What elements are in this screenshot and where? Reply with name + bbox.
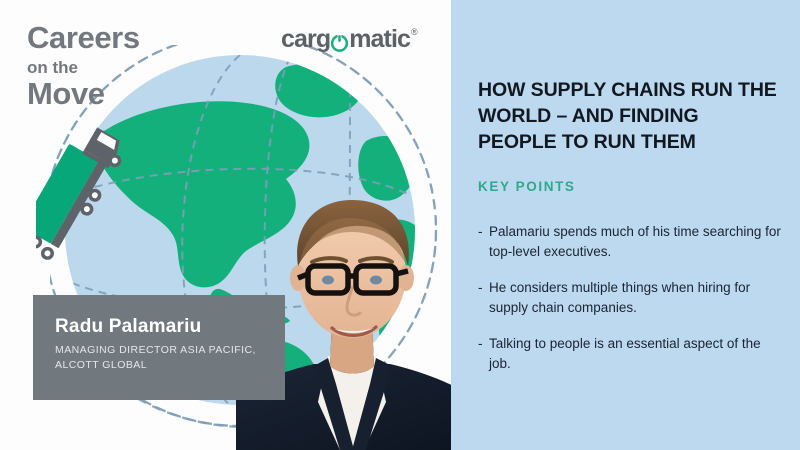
careers-on-the-move-headline: Careers on the Move bbox=[27, 22, 140, 111]
list-item: - Palamariu spends much of his time sear… bbox=[478, 222, 783, 261]
list-item: - Talking to people is an essential aspe… bbox=[478, 334, 783, 373]
key-points-list: - Palamariu spends much of his time sear… bbox=[478, 222, 783, 390]
left-panel: Careers on the Move carg matic ® Radu Pa… bbox=[0, 0, 451, 450]
list-item: - He considers multiple things when hiri… bbox=[478, 278, 783, 317]
episode-title: HOW SUPPLY CHAINS RUN THE WORLD – AND FI… bbox=[478, 78, 778, 156]
bullet-text: Talking to people is an essential aspect… bbox=[489, 334, 783, 373]
cargomatic-logo: carg matic ® bbox=[281, 27, 417, 52]
speaker-name: Radu Palamariu bbox=[55, 316, 201, 338]
bullet-dash: - bbox=[478, 222, 489, 261]
truck-icon bbox=[36, 118, 146, 283]
registered-trademark-icon: ® bbox=[411, 27, 418, 37]
slide-canvas: Careers on the Move carg matic ® Radu Pa… bbox=[0, 0, 800, 450]
key-points-label: KEY POINTS bbox=[478, 179, 576, 194]
headline-line-3: Move bbox=[27, 78, 140, 111]
speaker-role: MANAGING DIRECTOR ASIA PACIFIC, ALCOTT G… bbox=[55, 343, 275, 373]
bullet-text: He considers multiple things when hiring… bbox=[489, 278, 783, 317]
headline-line-1: Careers bbox=[27, 22, 140, 55]
logo-text-before: carg bbox=[281, 27, 330, 52]
bullet-text: Palamariu spends much of his time search… bbox=[489, 222, 783, 261]
speaker-nameplate: Radu Palamariu MANAGING DIRECTOR ASIA PA… bbox=[33, 295, 285, 400]
power-icon bbox=[330, 33, 349, 52]
logo-text-after: matic bbox=[349, 27, 410, 52]
bullet-dash: - bbox=[478, 278, 489, 317]
right-panel: HOW SUPPLY CHAINS RUN THE WORLD – AND FI… bbox=[451, 0, 800, 450]
bullet-dash: - bbox=[478, 334, 489, 373]
